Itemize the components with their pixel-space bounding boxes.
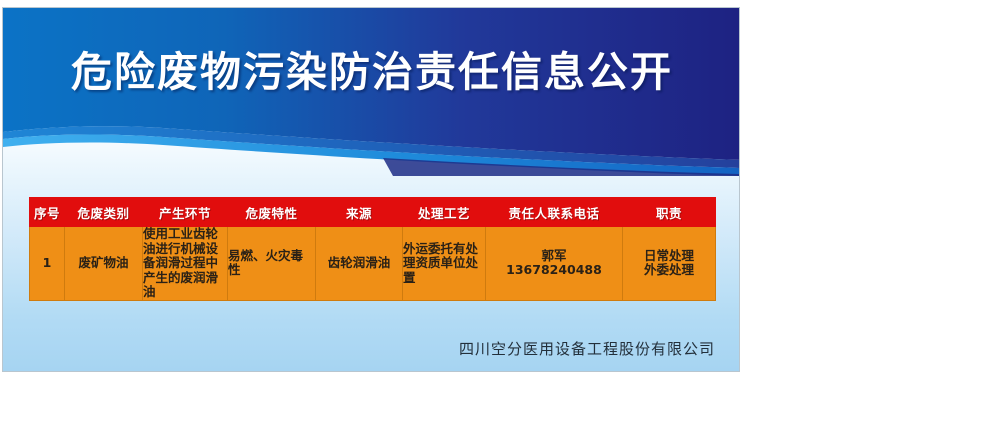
cell-seq: 1 — [30, 227, 65, 301]
cell-duty-line-2: 外委处理 — [623, 263, 715, 278]
cell-duty: 日常处理 外委处理 — [623, 227, 716, 301]
hazardous-waste-table-wrap: 序号 危废类别 产生环节 危废特性 来源 处理工艺 责任人联系电话 职责 1 废… — [29, 197, 715, 301]
cell-generation-stage: 使用工业齿轮油进行机械设备润滑过程中产生的废润滑油 — [143, 227, 228, 301]
cell-treatment-process-text: 外运委托有处理资质单位处置 — [403, 242, 485, 286]
hazardous-waste-table: 序号 危废类别 产生环节 危废特性 来源 处理工艺 责任人联系电话 职责 1 废… — [29, 197, 716, 301]
cell-contact-name: 郭军 — [486, 249, 622, 264]
page-title: 危险废物污染防治责任信息公开 — [3, 52, 740, 93]
table-row: 1 废矿物油 使用工业齿轮油进行机械设备润滑过程中产生的废润滑油 易燃、火灾毒性… — [30, 227, 716, 301]
cell-hazard-property: 易燃、火灾毒性 — [228, 227, 316, 301]
column-header-duty: 职责 — [623, 198, 716, 227]
cell-category: 废矿物油 — [65, 227, 143, 301]
column-header-property: 危废特性 — [228, 198, 316, 227]
cell-duty-line-1: 日常处理 — [623, 249, 715, 264]
column-header-category: 危废类别 — [65, 198, 143, 227]
cell-contact-phone: 13678240488 — [486, 263, 622, 278]
cell-generation-stage-text: 使用工业齿轮油进行机械设备润滑过程中产生的废润滑油 — [143, 227, 227, 300]
company-name: 四川空分医用设备工程股份有限公司 — [3, 338, 715, 359]
table-header-row: 序号 危废类别 产生环节 危废特性 来源 处理工艺 责任人联系电话 职责 — [30, 198, 716, 227]
column-header-contact: 责任人联系电话 — [486, 198, 623, 227]
column-header-stage: 产生环节 — [143, 198, 228, 227]
cell-hazard-property-text: 易燃、火灾毒性 — [228, 249, 315, 278]
cell-source: 齿轮润滑油 — [316, 227, 403, 301]
poster-panel: 危险废物污染防治责任信息公开 序号 危废类别 产生环节 危废特性 来源 — [2, 7, 740, 372]
cell-treatment-process: 外运委托有处理资质单位处置 — [403, 227, 486, 301]
cell-contact: 郭军 13678240488 — [486, 227, 623, 301]
column-header-process: 处理工艺 — [403, 198, 486, 227]
column-header-source: 来源 — [316, 198, 403, 227]
column-header-seq: 序号 — [30, 198, 65, 227]
